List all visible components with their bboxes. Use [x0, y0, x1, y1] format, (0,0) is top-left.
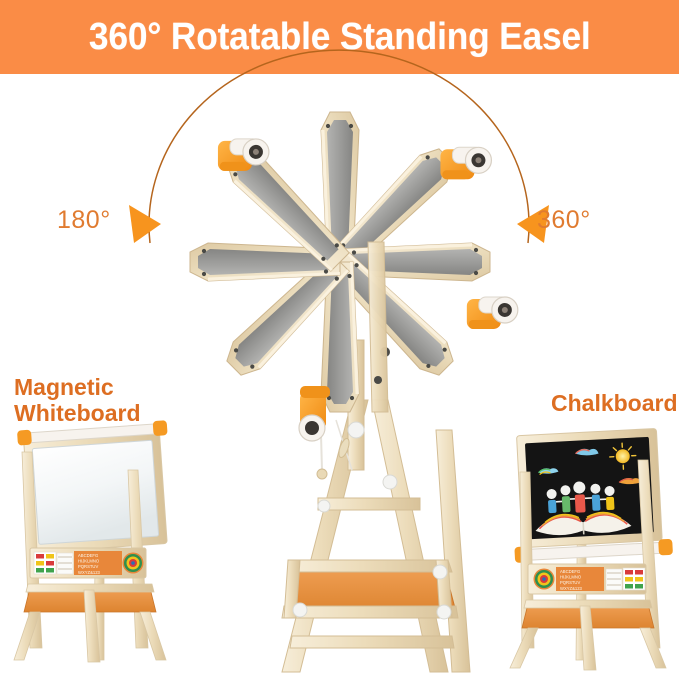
product-illustration: ABCDEFG HIJKLMNO PQRSTUV WXYZ&123	[0, 0, 679, 679]
svg-text:ABCDEFG: ABCDEFG	[78, 553, 98, 558]
color-wheel-left	[123, 553, 144, 574]
angle-label-360: 360°	[537, 206, 591, 235]
color-wheel-right	[534, 569, 555, 590]
svg-text:ABCDEFG: ABCDEFG	[560, 569, 580, 574]
accessory-panel-left: ABCDEFG HIJKLMNO PQRSTUV WXYZ&123	[30, 548, 146, 578]
svg-text:WXYZ&123: WXYZ&123	[78, 570, 101, 575]
product-right-chalkboard: ABCDEFG HIJKLMNO PQRSTUV WXYZ&123	[509, 428, 673, 670]
svg-text:WXYZ&123: WXYZ&123	[560, 586, 583, 591]
svg-text:HIJKLMNO: HIJKLMNO	[78, 559, 100, 564]
rotating-board-composite	[190, 112, 518, 412]
product-left-whiteboard: ABCDEFG HIJKLMNO PQRSTUV WXYZ&123	[14, 420, 175, 662]
caption-chalkboard: Chalkboard	[551, 390, 678, 416]
svg-text:PQRSTUV: PQRSTUV	[78, 564, 98, 569]
storage-tray	[282, 560, 458, 618]
svg-text:HIJKLMNO: HIJKLMNO	[560, 575, 582, 580]
caption-magnetic-whiteboard: Magnetic Whiteboard	[14, 374, 141, 426]
svg-text:PQRSTUV: PQRSTUV	[560, 580, 580, 585]
infographic-canvas: 360° Rotatable Standing Easel	[0, 0, 679, 679]
angle-label-180: 180°	[57, 206, 111, 235]
accessory-panel-right: ABCDEFG HIJKLMNO PQRSTUV WXYZ&123	[528, 564, 646, 594]
mast-clamp	[299, 386, 330, 441]
